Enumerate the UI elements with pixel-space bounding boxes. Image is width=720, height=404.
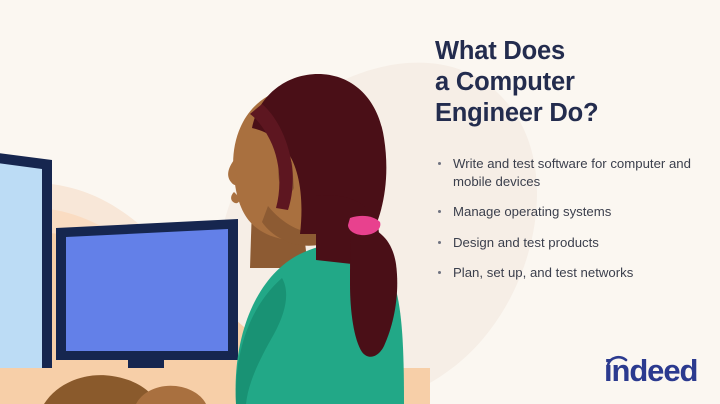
indeed-logo: indeed: [604, 352, 708, 390]
secondary-monitor-screen: [0, 162, 42, 404]
bullet-dot-icon: [438, 210, 441, 213]
bullet-dot-icon: [438, 241, 441, 244]
page-title: What Does a Computer Engineer Do?: [435, 36, 715, 129]
title-line-1: What Does: [435, 36, 715, 67]
bullet-dot-icon: [438, 162, 441, 165]
infographic-canvas: What Does a Computer Engineer Do? Write …: [0, 0, 720, 404]
main-monitor: [56, 219, 238, 392]
list-item: Manage operating systems: [435, 203, 710, 221]
list-item: Write and test software for computer and…: [435, 155, 710, 190]
title-line-3: Engineer Do?: [435, 98, 715, 129]
list-item-label: Write and test software for computer and…: [453, 155, 710, 190]
computer-engineer-illustration: [0, 0, 430, 404]
list-item: Plan, set up, and test networks: [435, 264, 710, 282]
bullet-dot-icon: [438, 271, 441, 274]
secondary-monitor: [0, 152, 52, 404]
logo-wordmark: indeed: [604, 352, 697, 390]
main-monitor-screen: [66, 229, 228, 351]
title-line-2: a Computer: [435, 67, 715, 98]
list-item: Design and test products: [435, 234, 710, 252]
text-content-column: What Does a Computer Engineer Do? Write …: [432, 0, 720, 404]
list-item-label: Design and test products: [453, 234, 710, 252]
duties-list: Write and test software for computer and…: [435, 155, 710, 282]
list-item-label: Plan, set up, and test networks: [453, 264, 710, 282]
list-item-label: Manage operating systems: [453, 203, 710, 221]
